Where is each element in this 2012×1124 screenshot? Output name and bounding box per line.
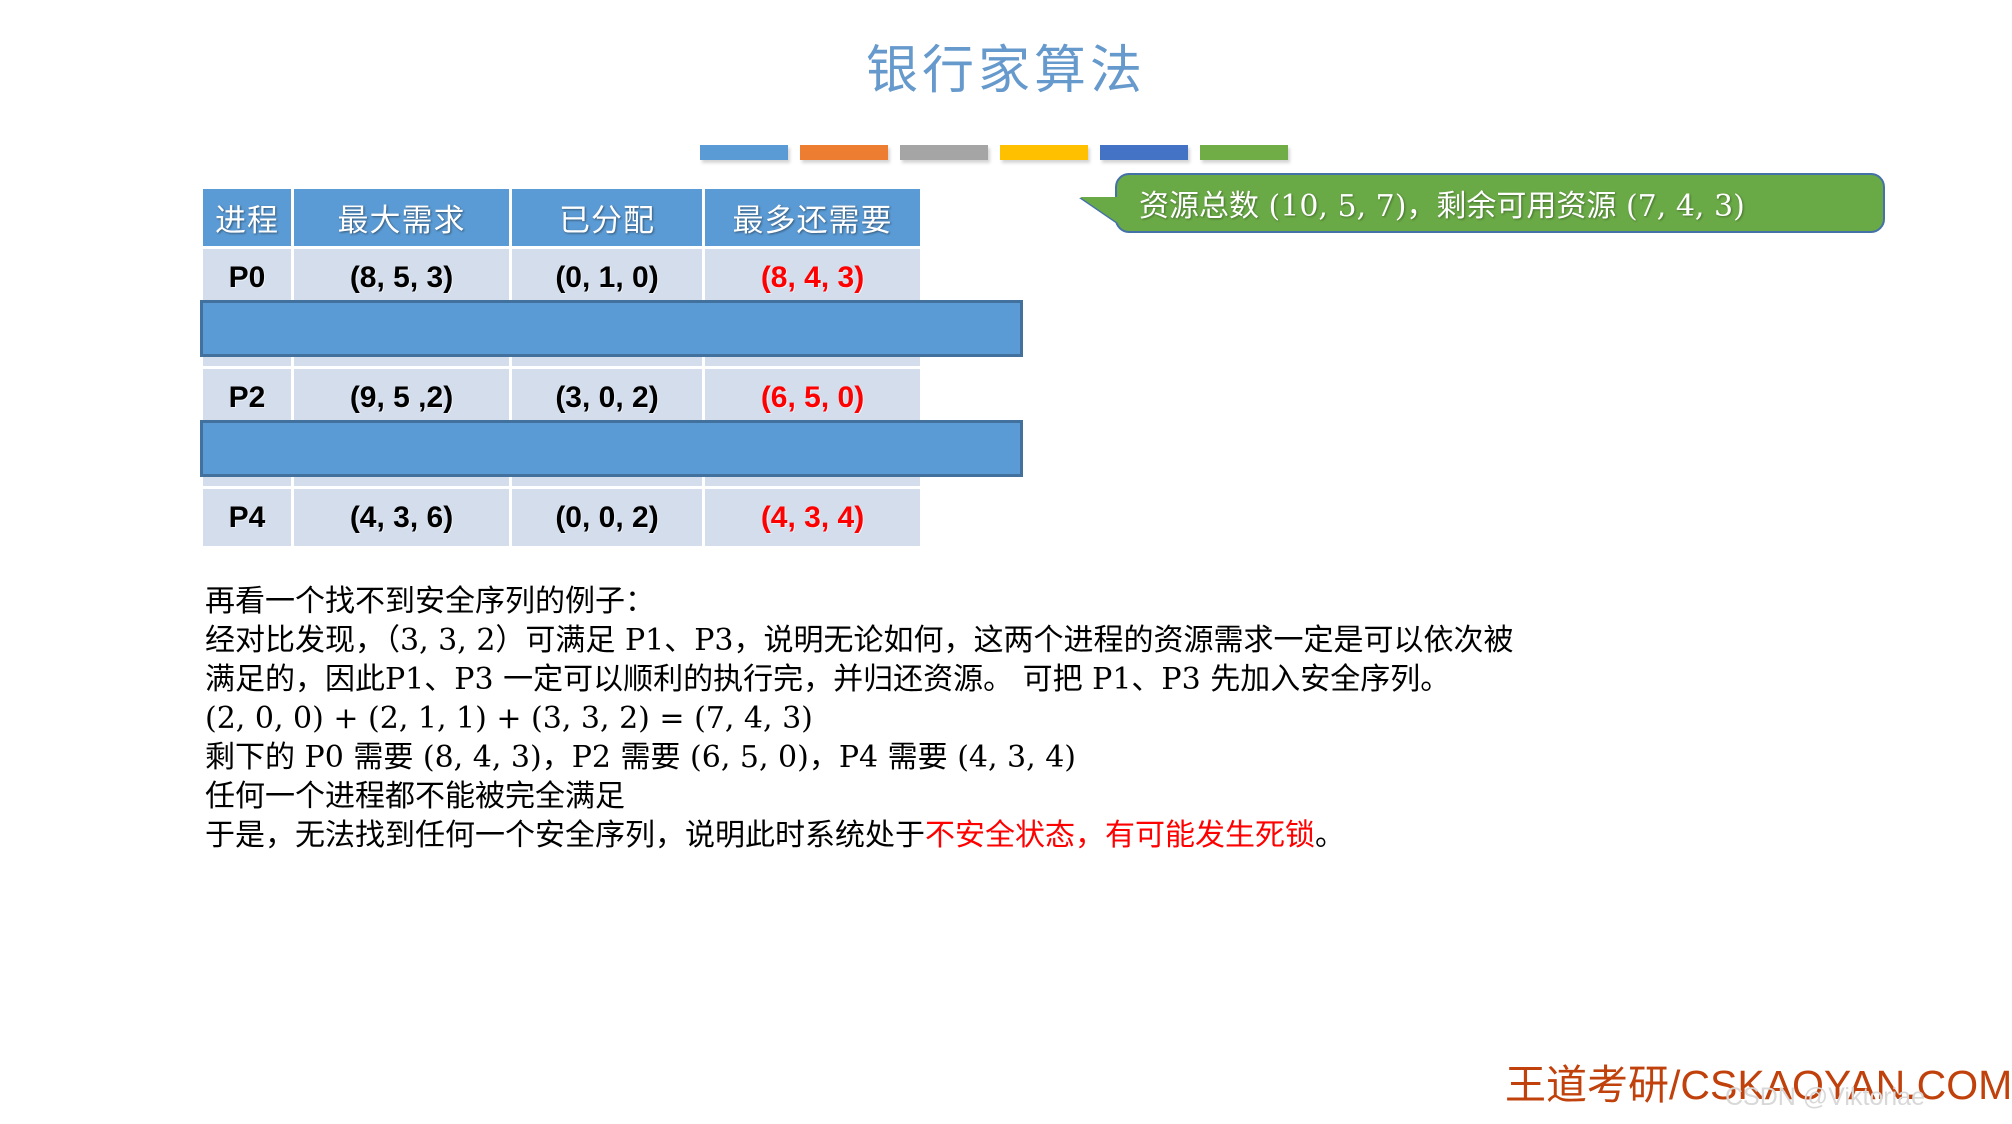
watermark: CSDN @Viktoriae [1725, 1083, 1925, 1112]
accent-bar-orange [800, 145, 888, 160]
cell-still-needed: (8, 4, 3) [705, 249, 920, 306]
resource-allocation-table: 进程 最大需求 已分配 最多还需要 P0 (8, 5, 3) (0, 1, 0)… [200, 186, 923, 549]
table-row: P4 (4, 3, 6) (0, 0, 2) (4, 3, 4) [203, 489, 920, 546]
accent-bar-blue-dark [1100, 145, 1188, 160]
accent-bar-blue-light [700, 145, 788, 160]
body-line-3: 满足的，因此P1、P3 一定可以顺利的执行完，并归还资源。 可把 P1、P3 先… [205, 660, 1925, 699]
cell-max: (8, 5, 3) [294, 249, 509, 306]
cell-max: (9, 5 ,2) [294, 369, 509, 426]
resource-total-callout: 资源总数 (10, 5, 7)，剩余可用资源 (7, 4, 3) [1115, 173, 1885, 233]
body-line-7: 于是，无法找到任何一个安全序列，说明此时系统处于不安全状态，有可能发生死锁。 [205, 816, 1925, 855]
cover-bar-row-p3 [200, 420, 1023, 477]
cell-max: (4, 3, 6) [294, 489, 509, 546]
column-header-still-needed: 最多还需要 [705, 189, 920, 246]
callout-text: 资源总数 (10, 5, 7)，剩余可用资源 (7, 4, 3) [1117, 181, 1745, 225]
body-line-7-suffix: 。 [1315, 818, 1345, 853]
cell-still-needed: (6, 5, 0) [705, 369, 920, 426]
cell-process: P0 [203, 249, 291, 306]
table-row: P2 (9, 5 ,2) (3, 0, 2) (6, 5, 0) [203, 369, 920, 426]
cover-bar-row-p1 [200, 300, 1023, 357]
accent-bar-yellow [1000, 145, 1088, 160]
column-header-process: 进程 [203, 189, 291, 246]
column-header-max-demand: 最大需求 [294, 189, 509, 246]
accent-bar-gray [900, 145, 988, 160]
body-line-2: 经对比发现，（3, 3, 2）可满足 P1、P3，说明无论如何，这两个进程的资源… [205, 621, 1925, 660]
body-line-1: 再看一个找不到安全序列的例子： [205, 582, 1925, 621]
cell-allocated: (0, 0, 2) [512, 489, 702, 546]
column-header-allocated: 已分配 [512, 189, 702, 246]
cell-allocated: (0, 1, 0) [512, 249, 702, 306]
table-row: P0 (8, 5, 3) (0, 1, 0) (8, 4, 3) [203, 249, 920, 306]
cell-process: P2 [203, 369, 291, 426]
accent-bar-green [1200, 145, 1288, 160]
callout-tail-icon [1080, 197, 1118, 223]
body-line-4: (2, 0, 0) + (2, 1, 1) + (3, 3, 2) = (7, … [205, 699, 1925, 738]
page-title: 银行家算法 [0, 28, 2012, 103]
explanation-text-block: 再看一个找不到安全序列的例子： 经对比发现，（3, 3, 2）可满足 P1、P3… [205, 582, 1925, 855]
body-line-7-danger: 不安全状态，有可能发生死锁 [925, 818, 1315, 853]
body-line-7-prefix: 于是，无法找到任何一个安全序列，说明此时系统处于 [205, 818, 925, 853]
cell-still-needed: (4, 3, 4) [705, 489, 920, 546]
body-line-6: 任何一个进程都不能被完全满足 [205, 777, 1925, 816]
table-header-row: 进程 最大需求 已分配 最多还需要 [203, 189, 920, 246]
body-line-5: 剩下的 P0 需要 (8, 4, 3)，P2 需要 (6, 5, 0)，P4 需… [205, 738, 1925, 777]
cell-allocated: (3, 0, 2) [512, 369, 702, 426]
accent-bar-strip [700, 145, 1288, 160]
cell-process: P4 [203, 489, 291, 546]
